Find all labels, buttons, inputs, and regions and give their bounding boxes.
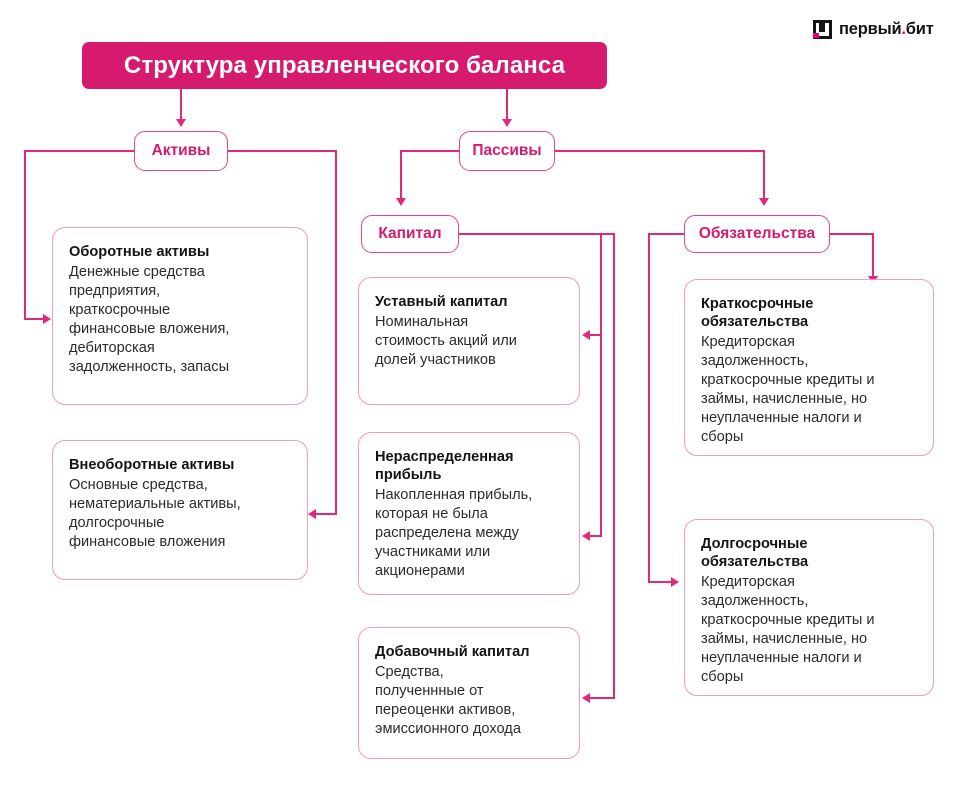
connector-capital-inner-vertical (600, 233, 602, 536)
node-obligations-label: Обязательства (699, 225, 815, 243)
card-long-term-obligations-title: Долгосрочные обязательства (701, 536, 917, 572)
first-bit-logo-icon (813, 20, 832, 39)
connector-assets-left-horizontal (24, 150, 136, 152)
card-additional-capital-body: Средства, полученнные от переоценки акти… (375, 663, 563, 739)
arrow-assets-to-current-assets (43, 314, 51, 324)
connector-capital-bus-horizontal (457, 233, 615, 235)
connector-obligations-right-vertical (872, 233, 874, 277)
arrow-title-to-assets (176, 119, 186, 127)
card-noncurrent-assets[interactable]: Внеоборотные активы Основные средства, н… (52, 440, 308, 580)
card-short-term-obligations-title: Краткосрочные обязательства (701, 296, 917, 332)
card-additional-capital-title: Добавочный капитал (375, 644, 563, 662)
connector-capital-to-retained-stub (590, 535, 602, 537)
arrow-capital-to-additional-capital (582, 693, 590, 703)
card-long-term-obligations[interactable]: Долгосрочные обязательства Кредиторская … (684, 519, 934, 696)
node-assets[interactable]: Активы (134, 131, 228, 171)
arrow-liabilities-to-capital (396, 198, 406, 206)
card-noncurrent-assets-title: Внеоборотные активы (69, 457, 291, 475)
node-capital[interactable]: Капитал (361, 215, 459, 253)
card-retained-earnings-title: Нераспределенная прибыль (375, 449, 563, 485)
connector-assets-left-stub (24, 318, 44, 320)
arrow-obligations-to-long-term (671, 577, 679, 587)
card-long-term-obligations-body: Кредиторская задолженность, краткосрочны… (701, 573, 917, 688)
connector-assets-right-vertical (335, 150, 337, 514)
connector-liabilities-left-vertical (400, 150, 402, 199)
page-title: Структура управленческого баланса (82, 42, 607, 89)
node-obligations[interactable]: Обязательства (684, 215, 830, 253)
connector-title-to-assets-vertical (180, 89, 182, 120)
card-noncurrent-assets-body: Основные средства, нематериальные активы… (69, 476, 291, 552)
card-short-term-obligations[interactable]: Краткосрочные обязательства Кредиторская… (684, 279, 934, 456)
card-current-assets[interactable]: Оборотные активы Денежные средства предп… (52, 227, 308, 405)
card-retained-earnings[interactable]: Нераспределенная прибыль Накопленная при… (358, 432, 580, 595)
node-liabilities-label: Пассивы (472, 142, 541, 160)
connector-capital-to-charter-stub (590, 334, 602, 336)
arrow-capital-to-charter-capital (582, 330, 590, 340)
connector-assets-right-stub (316, 513, 337, 515)
connector-liabilities-right-vertical (763, 150, 765, 199)
connector-liabilities-right-horizontal (553, 150, 765, 152)
connector-assets-right-horizontal (226, 150, 337, 152)
arrow-assets-to-noncurrent-assets (308, 509, 316, 519)
connector-obligations-left-vertical (648, 233, 650, 582)
card-retained-earnings-body: Накопленная прибыль, которая не была рас… (375, 486, 563, 582)
card-short-term-obligations-body: Кредиторская задолженность, краткосрочны… (701, 333, 917, 448)
card-charter-capital-body: Номинальная стоимость акций или долей уч… (375, 313, 563, 370)
connector-capital-outer-vertical (613, 233, 615, 698)
arrow-capital-to-retained-earnings (582, 531, 590, 541)
connector-obligations-right-horizontal (828, 233, 874, 235)
page-title-text: Структура управленческого баланса (124, 52, 565, 80)
arrow-liabilities-to-obligations (759, 198, 769, 206)
connector-liabilities-left-horizontal (400, 150, 461, 152)
card-current-assets-body: Денежные средства предприятия, краткосро… (69, 263, 291, 378)
connector-obligations-left-horizontal (648, 233, 686, 235)
node-capital-label: Капитал (378, 225, 441, 243)
connector-title-to-liabilities-vertical (506, 89, 508, 120)
brand-logo: первый.бит (813, 18, 934, 40)
connector-obligations-left-stub (648, 581, 672, 583)
brand-name-part1: первый (839, 20, 901, 38)
brand-name: первый.бит (839, 20, 934, 39)
node-assets-label: Активы (152, 142, 211, 160)
card-additional-capital[interactable]: Добавочный капитал Средства, полученнные… (358, 627, 580, 759)
brand-name-part2: бит (906, 20, 934, 38)
card-charter-capital-title: Уставный капитал (375, 294, 563, 312)
card-charter-capital[interactable]: Уставный капитал Номинальная стоимость а… (358, 277, 580, 405)
card-current-assets-title: Оборотные активы (69, 244, 291, 262)
diagram-canvas: первый.бит Структура управленческого бал… (0, 0, 962, 793)
connector-assets-left-vertical (24, 150, 26, 319)
connector-capital-to-additional-stub (590, 697, 615, 699)
arrow-title-to-liabilities (502, 119, 512, 127)
node-liabilities[interactable]: Пассивы (459, 131, 555, 171)
